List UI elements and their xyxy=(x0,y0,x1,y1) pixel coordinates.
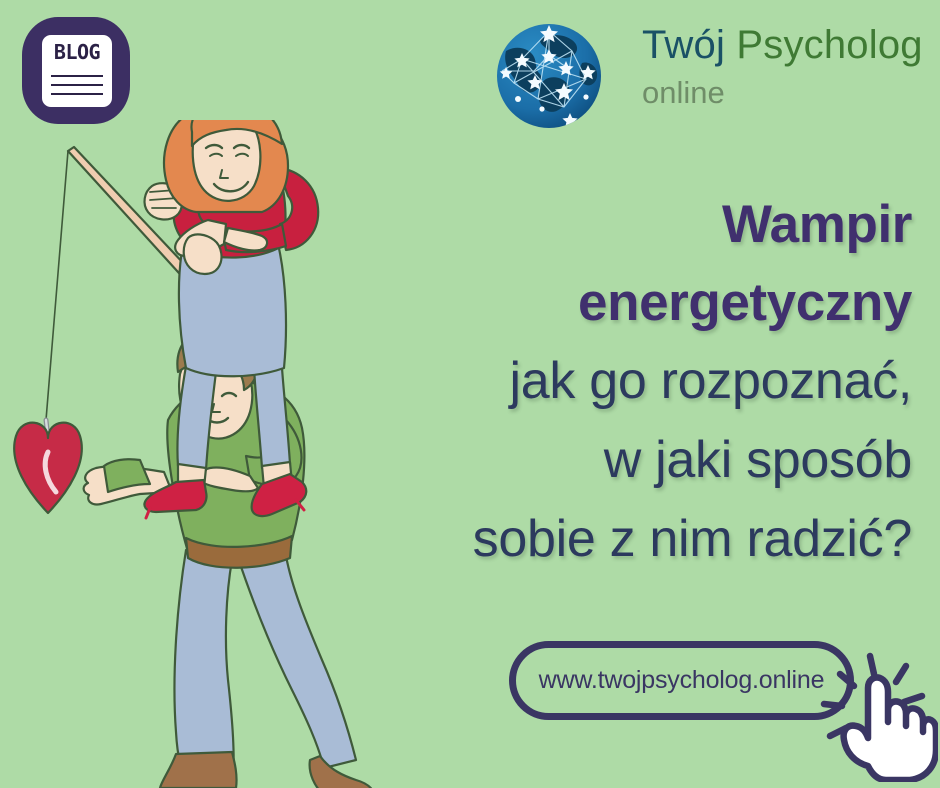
blog-rule-line-3 xyxy=(51,93,103,95)
blog-badge-label: BLOG xyxy=(42,42,112,62)
heart-lure xyxy=(14,423,82,513)
website-url-label: www.twojpsycholog.online xyxy=(516,648,847,713)
blog-rule-line-2 xyxy=(51,84,103,86)
blog-rule-line-1 xyxy=(51,75,103,77)
brand-name-part2: Psycholog xyxy=(736,23,922,67)
network-globe-icon xyxy=(494,21,604,131)
blog-badge[interactable]: BLOG xyxy=(22,17,130,124)
headline-line-2: energetyczny xyxy=(330,264,912,342)
brand-text-block: Twój Psycholog online xyxy=(642,18,924,114)
website-url-button[interactable]: www.twojpsycholog.online xyxy=(509,641,854,720)
headline-line-1: Wampir xyxy=(330,186,912,264)
brand-name-part1: Twój xyxy=(642,23,725,67)
headline-line-4: w jaki sposób xyxy=(330,421,912,500)
brand-name-line: Twój Psycholog xyxy=(642,18,924,72)
headline-block: Wampir energetyczny jak go rozpoznać, w … xyxy=(330,186,912,579)
fishing-line xyxy=(46,151,68,420)
blog-sheet-icon: BLOG xyxy=(42,35,112,107)
headline-line-3: jak go rozpoznać, xyxy=(330,342,912,421)
brand-subtitle: online xyxy=(642,72,924,114)
poster-canvas: BLOG xyxy=(0,0,940,788)
headline-line-5: sobie z nim radzić? xyxy=(330,500,912,579)
brand-lockup[interactable]: Twój Psycholog online xyxy=(494,18,924,134)
